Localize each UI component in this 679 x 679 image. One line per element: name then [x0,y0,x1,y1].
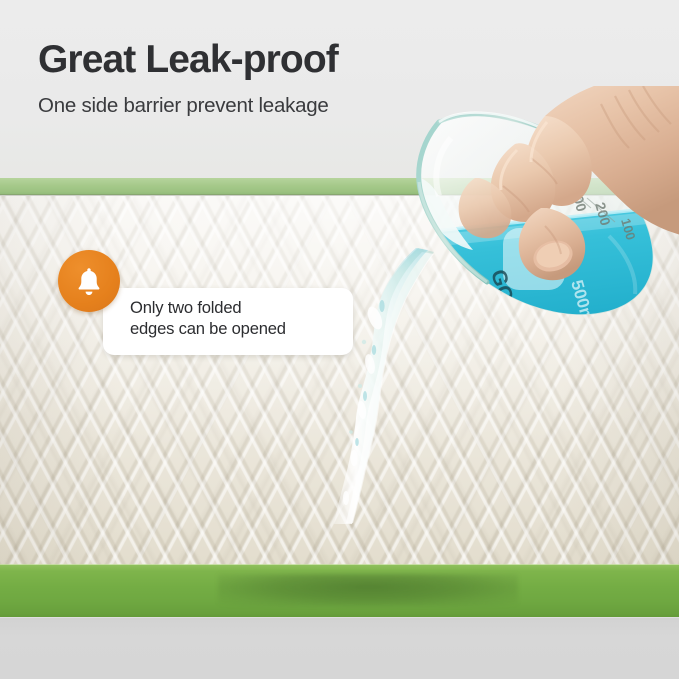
callout-group: Only two folded edges can be opened [58,250,358,358]
mat-rail-water-shadow [218,574,518,606]
background-lower [0,618,679,679]
callout-badge [58,250,120,312]
callout-label: Only two folded edges can be opened [130,297,360,339]
bell-icon [74,265,104,297]
page-title: Great Leak-proof [38,40,598,81]
beaker-and-hand: GG 500ml 500 APPROX 300 200 100 [395,86,679,386]
product-feature-image: Great Leak-proof One side barrier preven… [0,0,679,679]
